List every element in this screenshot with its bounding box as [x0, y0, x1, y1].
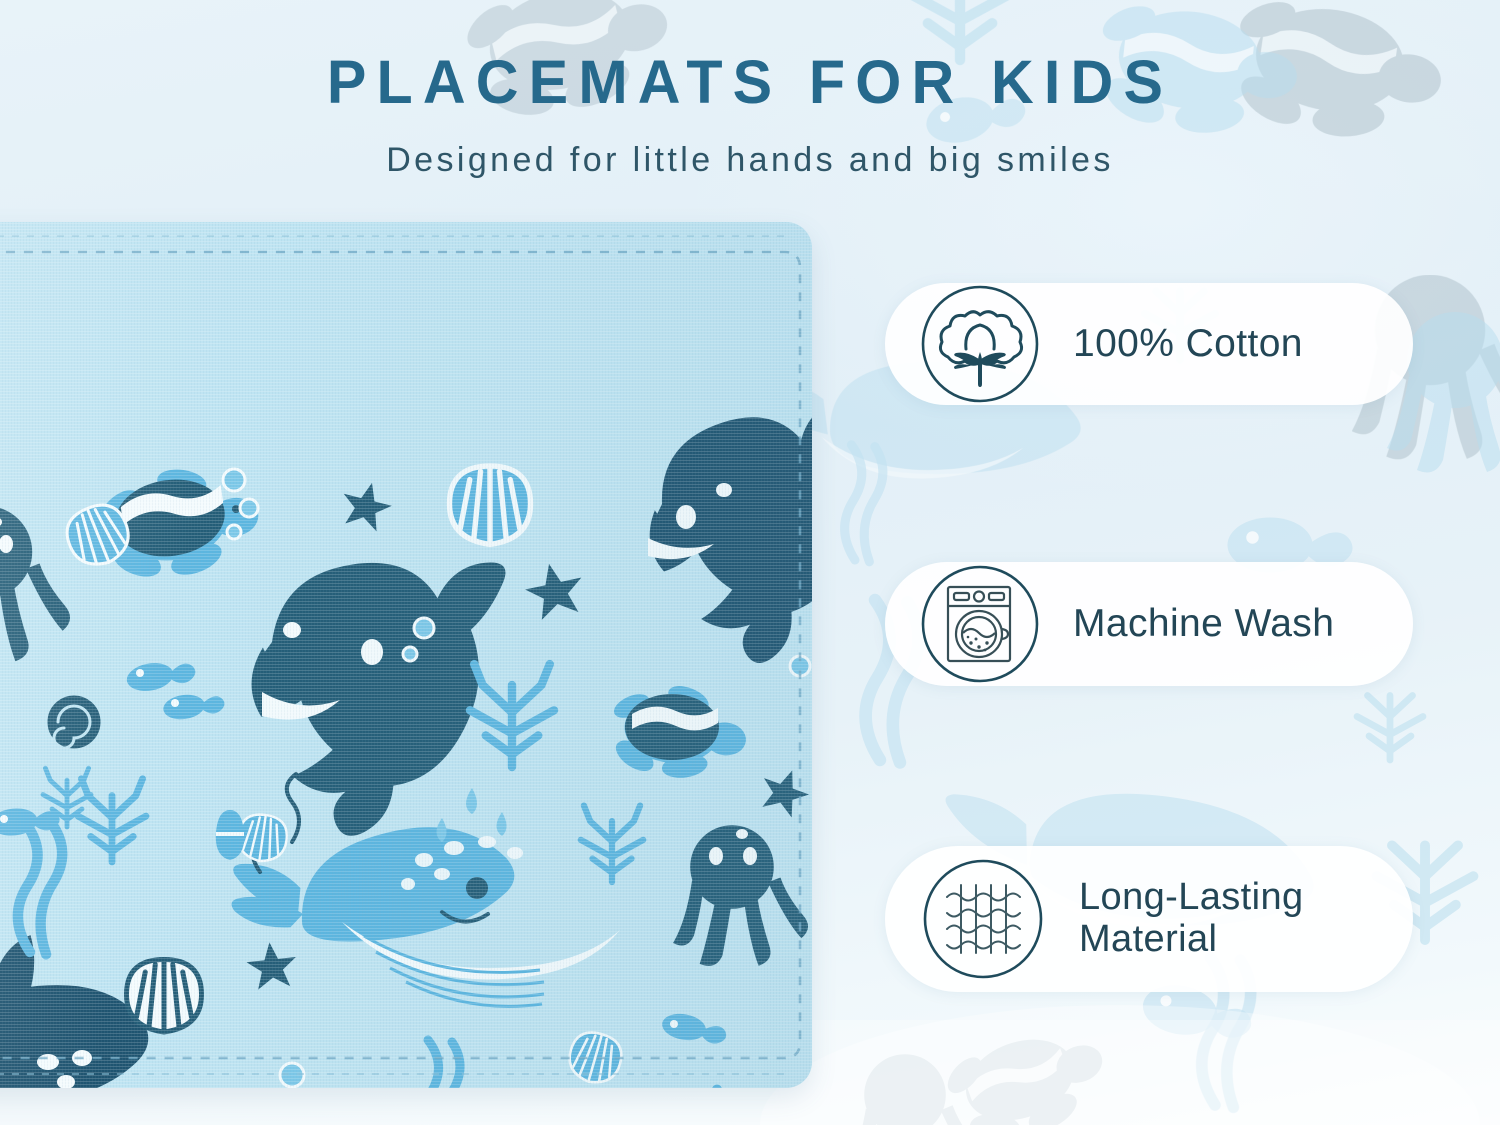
feature-list: 100% Cotton [885, 0, 1425, 1125]
product-infographic: PLACEMATS FOR KIDS Designed for little h… [0, 0, 1500, 1125]
feature-label-long-lasting: Long-Lasting Material [1079, 877, 1304, 961]
cotton-boll-icon [919, 283, 1041, 405]
feature-label-cotton: 100% Cotton [1073, 322, 1303, 366]
feature-item-cotton[interactable]: 100% Cotton [885, 283, 1413, 405]
placemat-fabric [0, 222, 812, 1088]
washing-machine-icon [919, 563, 1041, 685]
feature-item-long-lasting[interactable]: Long-Lasting Material [885, 846, 1413, 992]
fabric-weave-icon [919, 855, 1047, 983]
feature-label-machine-wash: Machine Wash [1073, 602, 1334, 646]
product-image-placemat [0, 222, 812, 1088]
fabric-lighting [0, 222, 812, 1088]
feature-item-machine-wash[interactable]: Machine Wash [885, 562, 1413, 686]
